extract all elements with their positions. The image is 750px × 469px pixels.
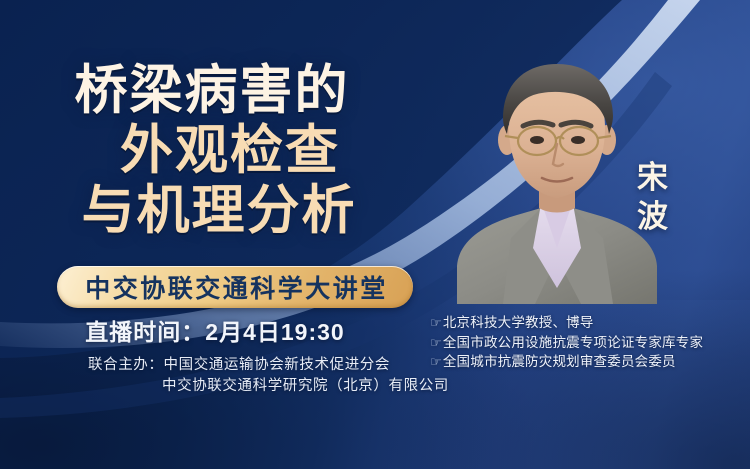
- pointing-hand-icon: ☞: [430, 352, 442, 372]
- speaker-name: 宋 波: [630, 158, 676, 236]
- left-eye: [530, 136, 544, 144]
- headline-line-2: 外观检查: [0, 124, 430, 177]
- headline-line-1: 桥梁病害的: [0, 64, 430, 117]
- series-badge: 中交协联交通科学大讲堂: [57, 266, 413, 308]
- series-badge-label: 中交协联交通科学大讲堂: [82, 269, 388, 305]
- organizer-line-2: 中交协联交通科学研究院（北京）有限公司: [88, 376, 449, 397]
- right-eye: [571, 136, 585, 144]
- speaker-name-char-1: 宋: [630, 158, 676, 197]
- organizer-line-1: 联合主办：中国交通运输协会新技术促进分会: [88, 355, 449, 376]
- credential-row: ☞ 全国市政公用设施抗震专项论证专家库专家: [430, 333, 746, 353]
- live-time: 直播时间：2月4日19:30: [0, 313, 430, 347]
- credential-row: ☞ 北京科技大学教授、博导: [430, 313, 746, 333]
- pointing-hand-icon: ☞: [430, 333, 442, 353]
- pointing-hand-icon: ☞: [430, 313, 442, 333]
- credential-text: 北京科技大学教授、博导: [443, 313, 594, 333]
- organizers: 联合主办：中国交通运输协会新技术促进分会 中交协联交通科学研究院（北京）有限公司: [88, 355, 449, 397]
- credential-row: ☞ 全国城市抗震防灾规划审查委员会委员: [430, 352, 746, 372]
- headline-line-3: 与机理分析: [0, 184, 430, 237]
- credential-text: 全国市政公用设施抗震专项论证专家库专家: [443, 333, 703, 353]
- headline: 桥梁病害的 外观检查 与机理分析: [0, 64, 430, 244]
- speaker-name-char-2: 波: [630, 197, 676, 236]
- webinar-poster: 桥梁病害的 外观检查 与机理分析 中交协联交通科学大讲堂 直播时间：2月4日19…: [0, 0, 750, 469]
- credential-text: 全国城市抗震防灾规划审查委员会委员: [443, 352, 676, 372]
- speaker-credentials: ☞ 北京科技大学教授、博导 ☞ 全国市政公用设施抗震专项论证专家库专家 ☞ 全国…: [430, 313, 746, 372]
